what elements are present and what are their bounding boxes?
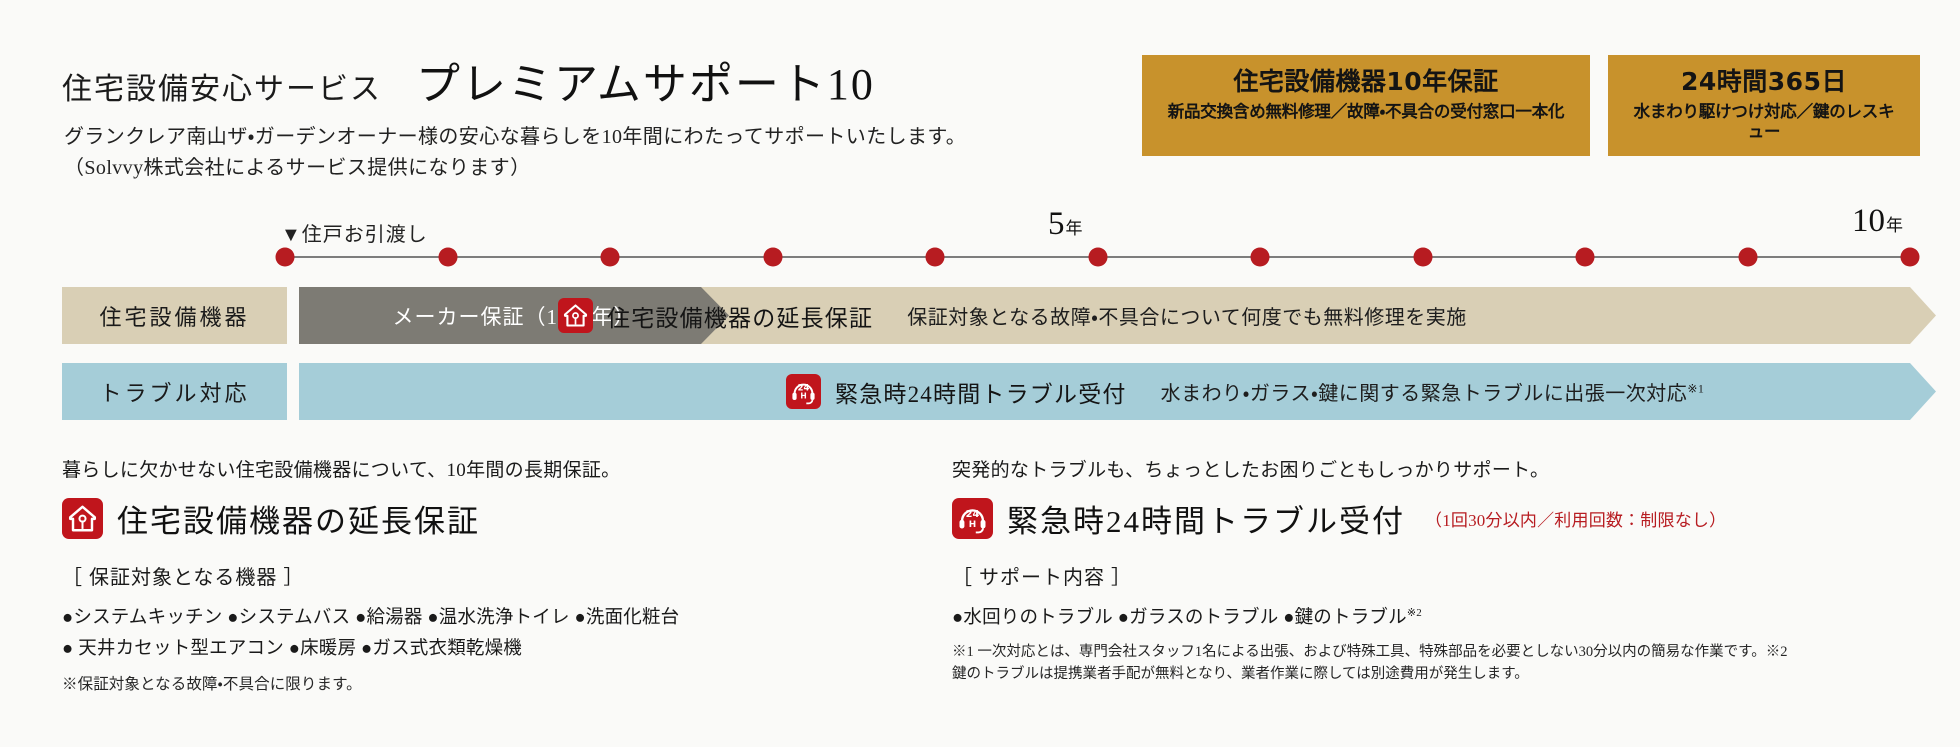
house-icon [62, 498, 103, 539]
badge-group: 住宅設備機器10年保証 新品交換含め無料修理／故障・不具合の受付窓口一本化 24… [1142, 55, 1920, 156]
house-icon [558, 298, 593, 333]
right-bullet-line-1: ●水回りのトラブル ●ガラスのトラブル ●鍵のトラブル※2 [952, 604, 1852, 633]
left-footnote: ※保証対象となる故障・不具合に限ります。 [62, 673, 942, 696]
badge-24h-365-title: 24時間365日 [1632, 66, 1896, 97]
row-equipment: 住宅設備機器 メーカー保証（1〜2年） 住宅設備機器の延長保証 保証対象となる故… [62, 287, 1936, 344]
timeline-axis [285, 255, 1910, 259]
right-title-text: 緊急時24時間トラブル受付 [1007, 496, 1405, 541]
right-footnote-line-1: ※1 一次対応とは、専門会社スタッフ1名による出張、および特殊工具、特殊部品を必… [952, 641, 1852, 663]
timeline-marker-10y: 10年 [1852, 203, 1903, 240]
lead-paragraph: グランクレア南山ザ・ガーデンオーナー様の安心な暮らしを10年間にわたってサポート… [64, 122, 966, 184]
timeline-marker-5y-number: 5 [1048, 206, 1065, 242]
timeline-dot [601, 248, 620, 267]
badge-24h-365: 24時間365日 水まわり駆けつけ対応／鍵のレスキュー [1608, 55, 1920, 156]
lead-line-1: グランクレア南山ザ・ガーデンオーナー様の安心な暮らしを10年間にわたってサポート… [64, 122, 966, 153]
timeline-marker-5y: 5年 [1048, 206, 1083, 243]
timeline-dot [438, 248, 457, 267]
row-equipment-content: 住宅設備機器の延長保証 保証対象となる故障・不具合について何度でも無料修理を実施 [558, 287, 1467, 344]
right-bullet-line-1-sup: ※2 [1407, 607, 1422, 619]
right-footnote-line-2: 鍵のトラブルは提携業者手配が無料となり、業者作業に際しては別途費用が発生します。 [952, 663, 1852, 685]
left-lead: 暮らしに欠かせない住宅設備機器について、10年間の長期保証。 [62, 455, 942, 482]
timeline-dot [1901, 248, 1920, 267]
header: 住宅設備安心サービス プレミアムサポート10 グランクレア南山ザ・ガーデンオーナ… [0, 0, 1960, 175]
badge-warranty-10y-subtitle: 新品交換含め無料修理／故障・不具合の受付窓口一本化 [1166, 102, 1566, 122]
left-bullet-line-1: ●システムキッチン ●システムバス ●給湯器 ●温水洗浄トイレ ●洗面化粧台 [62, 604, 942, 633]
timeline-marker-5y-unit: 年 [1066, 219, 1083, 238]
timeline-marker-10y-number: 10 [1852, 203, 1885, 239]
timeline-dot [1413, 248, 1432, 267]
timeline-dot [926, 248, 945, 267]
left-bullet-line-2: ● 天井カセット型エアコン ●床暖房 ●ガス式衣類乾燥機 [62, 635, 942, 664]
page-title-main: プレミアムサポート10 [416, 48, 875, 112]
page-title-small: 住宅設備安心サービス [62, 64, 382, 108]
badge-warranty-10y-title: 住宅設備機器10年保証 [1166, 66, 1566, 97]
right-title: 24 H 緊急時24時間トラブル受付 （1回30分以内／利用回数：制限なし） [952, 496, 1852, 541]
column-24h-support: 突発的なトラブルも、ちょっとしたお困りごともしっかりサポート。 24 H 緊急時… [952, 455, 1852, 686]
svg-text:H: H [969, 520, 976, 530]
row-trouble-label: トラブル対応 [62, 363, 287, 420]
right-subhead: ［ サポート内容 ］ [952, 561, 1852, 590]
row-equipment-headline: 住宅設備機器の延長保証 [607, 299, 873, 333]
right-title-note: （1回30分以内／利用回数：制限なし） [1425, 506, 1726, 531]
row-trouble-content: 24 H 緊急時24時間トラブル受付 水まわり・ガラス・鍵に関する緊急トラブルに… [786, 363, 1704, 420]
row-trouble-description-text: 水まわり・ガラス・鍵に関する緊急トラブルに出張一次対応 [1161, 383, 1688, 405]
badge-warranty-10y: 住宅設備機器10年保証 新品交換含め無料修理／故障・不具合の受付窓口一本化 [1142, 55, 1590, 156]
row-equipment-description: 保証対象となる故障・不具合について何度でも無料修理を実施 [907, 301, 1467, 330]
right-lead: 突発的なトラブルも、ちょっとしたお困りごともしっかりサポート。 [952, 455, 1852, 482]
timeline-dot [1576, 248, 1595, 267]
svg-text:24: 24 [966, 509, 980, 520]
timeline-marker-10y-unit: 年 [1886, 216, 1903, 235]
row-trouble-track: 24 H 緊急時24時間トラブル受付 水まわり・ガラス・鍵に関する緊急トラブルに… [299, 363, 1936, 420]
svg-text:H: H [800, 392, 806, 401]
timeline-dot [1088, 248, 1107, 267]
left-title-text: 住宅設備機器の延長保証 [117, 496, 480, 541]
left-subhead: ［ 保証対象となる機器 ］ [62, 561, 942, 590]
lead-line-2: （Solvvy株式会社によるサービス提供になります） [64, 153, 966, 184]
right-bullet-list: ●水回りのトラブル ●ガラスのトラブル ●鍵のトラブル※2 [952, 604, 1852, 633]
row-trouble: トラブル対応 24 H 緊急時24時間トラブル受付 水まわり・ガラス・鍵に関する… [62, 363, 1936, 420]
24h-icon: 24 H [786, 374, 821, 409]
timeline-dot [763, 248, 782, 267]
timeline-dot [276, 248, 295, 267]
row-equipment-label: 住宅設備機器 [62, 287, 287, 344]
timeline-dot [1251, 248, 1270, 267]
24h-icon: 24 H [952, 498, 993, 539]
page-title: 住宅設備安心サービス プレミアムサポート10 [62, 48, 875, 112]
right-footnote: ※1 一次対応とは、専門会社スタッフ1名による出張、および特殊工具、特殊部品を必… [952, 641, 1852, 686]
badge-24h-365-subtitle: 水まわり駆けつけ対応／鍵のレスキュー [1632, 102, 1896, 142]
timeline-dot [1738, 248, 1757, 267]
left-bullet-list: ●システムキッチン ●システムバス ●給湯器 ●温水洗浄トイレ ●洗面化粧台 ●… [62, 604, 942, 663]
row-trouble-description: 水まわり・ガラス・鍵に関する緊急トラブルに出張一次対応※1 [1161, 377, 1705, 406]
row-trouble-headline: 緊急時24時間トラブル受付 [835, 375, 1127, 409]
right-bullet-line-1-text: ●水回りのトラブル ●ガラスのトラブル ●鍵のトラブル [952, 608, 1407, 628]
row-equipment-track: メーカー保証（1〜2年） 住宅設備機器の延長保証 保証対象となる故障・不具合につ… [299, 287, 1936, 344]
premium-support-sheet: 住宅設備安心サービス プレミアムサポート10 グランクレア南山ザ・ガーデンオーナ… [0, 0, 1960, 747]
timeline-handover-label: ▼住戸お引渡し [281, 218, 428, 247]
left-title: 住宅設備機器の延長保証 [62, 496, 942, 541]
column-extended-warranty: 暮らしに欠かせない住宅設備機器について、10年間の長期保証。 住宅設備機器の延長… [62, 455, 942, 697]
row-trouble-description-sup: ※1 [1687, 381, 1704, 395]
